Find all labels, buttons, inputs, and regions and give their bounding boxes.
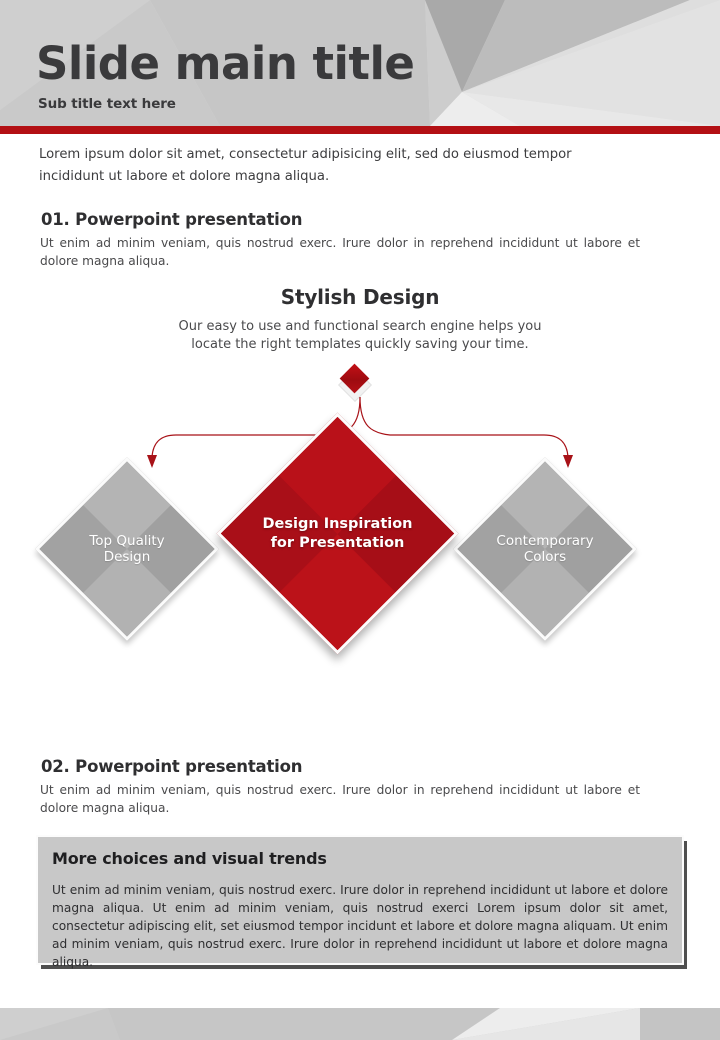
slide-header: Slide main title Sub title text here [0,0,720,126]
header-accent-rule [0,126,720,134]
page-title: Slide main title [36,38,414,90]
callout-body: Ut enim ad minim veniam, quis nostrud ex… [52,881,668,971]
section-02-heading: 02. Powerpoint presentation [41,757,302,776]
diagram-node-label: Contemporary Colors [483,487,607,611]
callout-box: More choices and visual trends Ut enim a… [36,835,684,965]
section-01-heading: 01. Powerpoint presentation [41,210,302,229]
section-02-body: Ut enim ad minim veniam, quis nostrud ex… [40,781,640,817]
diagram-node-top-quality-design[interactable]: Top Quality Design [35,457,219,641]
slide-footer [0,1008,720,1040]
diagram-subtitle: Our easy to use and functional search en… [160,318,560,354]
section-01-body: Ut enim ad minim veniam, quis nostrud ex… [40,234,640,270]
footer-polygon-background [0,1008,720,1040]
diagram-node-contemporary-colors[interactable]: Contemporary Colors [453,457,637,641]
intro-paragraph: Lorem ipsum dolor sit amet, consectetur … [39,144,639,188]
callout-title: More choices and visual trends [52,849,327,868]
diagram-node-label: Top Quality Design [65,487,189,611]
diagram-title: Stylish Design [0,285,720,309]
page-subtitle: Sub title text here [38,96,414,112]
header-text-block: Slide main title Sub title text here [36,38,414,112]
diagram-node-label: Design Inspiration for Presentation [255,451,420,616]
diagram-nodes: Top Quality Design Design Inspiration fo… [0,465,720,695]
